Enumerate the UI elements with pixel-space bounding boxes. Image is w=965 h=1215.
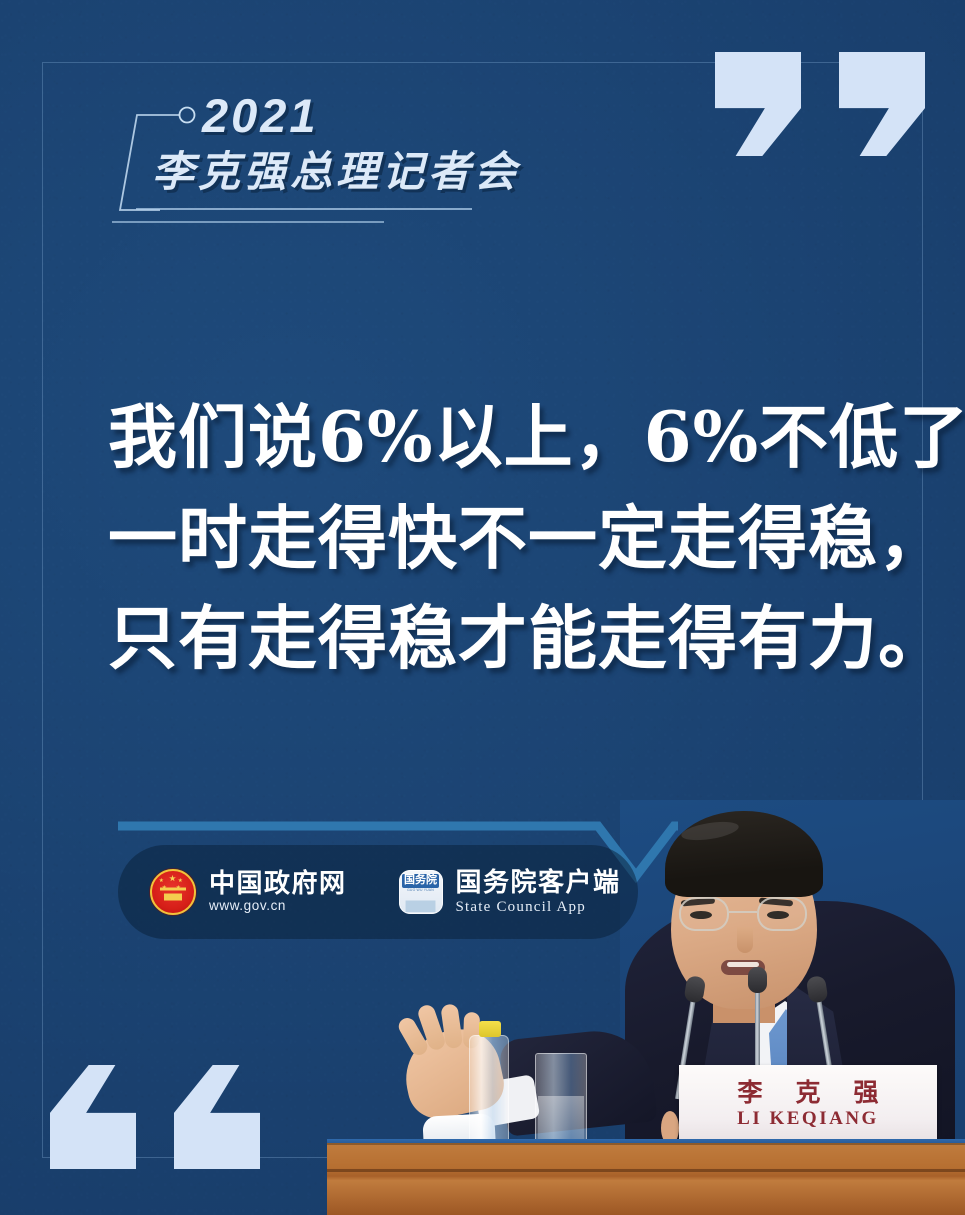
- emblem-gate: [160, 888, 186, 901]
- year-label: 2021: [202, 92, 520, 139]
- state-council-app-icon: 国务院 GUO WU YUAN: [399, 870, 443, 914]
- photo-drinking-glass: [535, 1053, 587, 1145]
- gov-cn-url: www.gov.cn: [209, 898, 347, 914]
- quote-line-1: 我们说6%以上，6%不低了。: [108, 388, 898, 489]
- closing-quotation-mark-icon: [839, 52, 925, 156]
- nameplate-name-cn: 李 克 强: [725, 1080, 892, 1108]
- poster-canvas: 2021 李克强总理记者会 我们说6%以上，6%不低了。 一时走得快不一定走得稳…: [0, 0, 965, 1215]
- quote-line-2: 一时走得快不一定走得稳，: [108, 489, 898, 590]
- state-council-app-logo-unit[interactable]: 国务院 GUO WU YUAN 国务院客户端 State Council App: [399, 868, 621, 915]
- nameplate-name-en: LI KEQIANG: [737, 1109, 879, 1128]
- conference-title: 李克强总理记者会: [152, 149, 520, 194]
- app-icon-building: [404, 895, 438, 912]
- header-rule-secondary: [112, 221, 384, 223]
- quote-text: 我们说6%以上，6%不低了。 一时走得快不一定走得稳， 只有走得稳才能走得有力。: [108, 388, 898, 690]
- opening-quote-decoration: [50, 1065, 260, 1169]
- closing-quote-decoration: [715, 52, 925, 156]
- app-icon-label-pinyin: GUO WU YUAN: [407, 889, 434, 892]
- opening-quotation-mark-icon: [50, 1065, 136, 1169]
- photo-wooden-desk: [327, 1143, 965, 1215]
- opening-quotation-mark-icon: [174, 1065, 260, 1169]
- closing-quotation-mark-icon: [715, 52, 801, 156]
- footer-logo-bar: 中国政府网 www.gov.cn 国务院 GUO WU YUAN 国务院客户端 …: [118, 845, 638, 939]
- national-emblem-icon: [150, 869, 196, 915]
- emblem-stars: [159, 876, 187, 888]
- state-council-app-text: 国务院客户端 State Council App: [456, 868, 621, 915]
- state-council-app-name: 国务院客户端: [456, 868, 621, 897]
- header-block: 2021 李克强总理记者会: [118, 92, 520, 194]
- state-council-app-name-en: State Council App: [456, 898, 621, 916]
- gov-cn-logo-unit[interactable]: 中国政府网 www.gov.cn: [150, 869, 347, 915]
- app-icon-label-cn: 国务院: [402, 874, 439, 888]
- photo-water-bottle: [469, 1035, 509, 1145]
- gov-cn-text: 中国政府网 www.gov.cn: [209, 869, 347, 914]
- gov-cn-name: 中国政府网: [209, 869, 347, 898]
- photo-nose: [737, 927, 753, 953]
- photo-nameplate: 李 克 强 LI KEQIANG: [679, 1065, 937, 1143]
- header-rule-primary: [136, 208, 472, 210]
- quote-line-3: 只有走得稳才能走得有力。: [108, 589, 898, 690]
